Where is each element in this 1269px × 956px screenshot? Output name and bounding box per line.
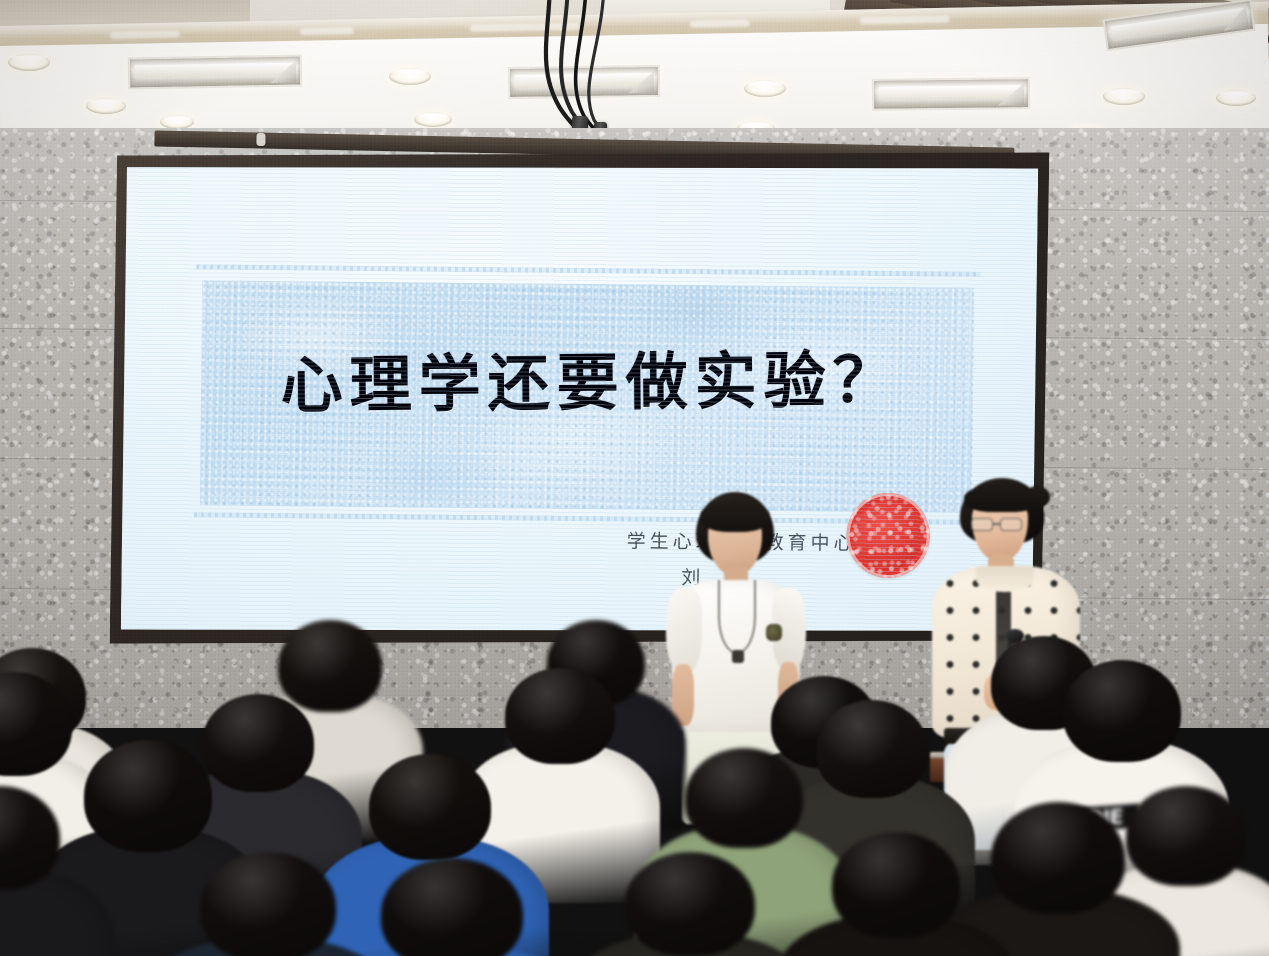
photograph-lecture-hall: 心理学还要做实验？ 学生心理健康教育中心 刘 [0, 0, 1269, 956]
presenter-left-necklace [718, 580, 756, 654]
audience-member-head [625, 852, 755, 956]
ceiling-downlight-icon [160, 115, 194, 129]
ceiling-downlight-icon [414, 112, 452, 127]
ceiling-downlight-icon [744, 80, 786, 97]
audience-member [570, 852, 810, 956]
presenter-left-pendant [732, 650, 744, 663]
ceiling-downlight-icon [8, 54, 50, 71]
audience-member-head [381, 858, 523, 956]
cove-specular [110, 31, 180, 39]
projection-screen: 心理学还要做实验？ 学生心理健康教育中心 刘 [110, 144, 1050, 653]
audience-member-head [369, 754, 491, 860]
audience-member-head [832, 832, 960, 938]
ceiling-downlight-icon [86, 98, 126, 114]
screen-mount-knob [256, 133, 265, 146]
eyeglasses-bridge-icon [993, 523, 1001, 525]
eyeglasses-right-lens-icon [1000, 518, 1022, 531]
presenter-left-shirt-emblem [766, 624, 782, 641]
cove-specular [860, 16, 950, 25]
audience-member [321, 858, 583, 956]
audience-member-head [505, 668, 615, 764]
audience-member-head [200, 852, 336, 956]
screen-vignette [121, 160, 1038, 639]
ceiling-downlight-icon [389, 68, 431, 85]
ceiling-linear-fixture-icon [128, 54, 303, 89]
ceiling-downlight-icon [1103, 88, 1145, 105]
audience-member [0, 786, 115, 956]
audience-member-head [1063, 660, 1181, 762]
ceiling-linear-fixture-icon [872, 77, 1030, 111]
screen-surface: 心理学还要做实验？ 学生心理健康教育中心 刘 [121, 160, 1038, 639]
presenter-right-fringe [964, 484, 1040, 512]
audience-member [777, 832, 1015, 956]
ceiling-downlight-icon [1216, 90, 1256, 106]
cove-specular [300, 27, 354, 35]
blouse-collar [976, 566, 1034, 592]
eyeglasses-left-lens-icon [971, 518, 993, 531]
presenter-left-fringe [700, 500, 770, 532]
